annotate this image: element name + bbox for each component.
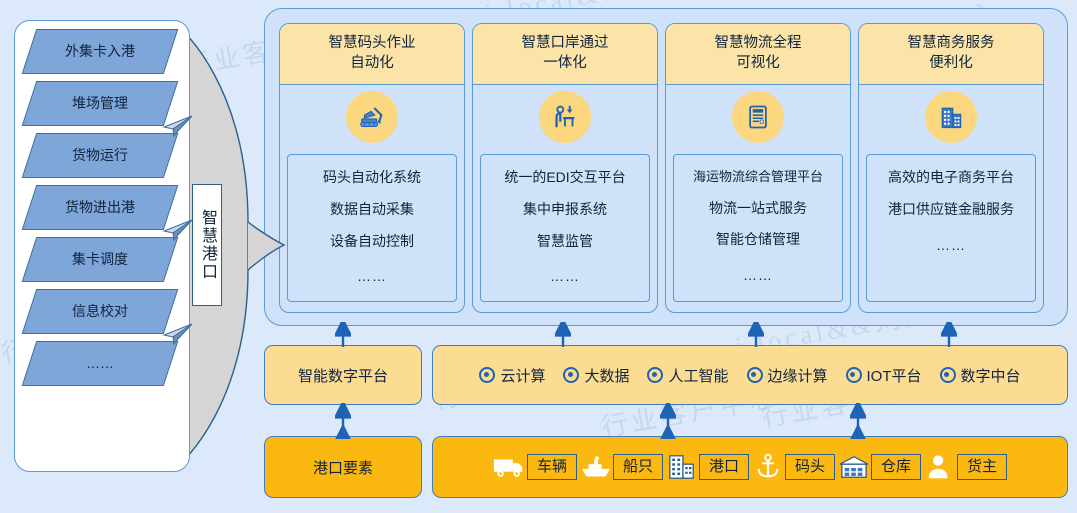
office-buildings-icon bbox=[937, 103, 965, 131]
tech-item-ai[interactable]: 人工智能 bbox=[647, 365, 728, 386]
entity-ship[interactable]: 船只 bbox=[579, 452, 663, 482]
arrow-up-card4 bbox=[941, 322, 957, 348]
card-item-list: 码头自动化系统 数据自动采集 设备自动控制 …… bbox=[287, 154, 457, 302]
smart-port-capability-container: 智慧码头作业 自动化 码头自动化系统 bbox=[264, 8, 1068, 326]
card-title: 智慧物流全程 可视化 bbox=[666, 24, 850, 85]
double-circle-icon bbox=[846, 367, 862, 383]
anchor-icon bbox=[751, 452, 785, 482]
card-icon-row bbox=[859, 85, 1043, 149]
card-title: 智慧口岸通过 一体化 bbox=[473, 24, 657, 85]
card-item: 统一的EDI交互平台 bbox=[504, 169, 625, 186]
card-item-list: 海运物流综合管理平台 物流一站式服务 智能仓储管理 …… bbox=[673, 154, 843, 302]
card-title-line1: 智慧商务服务 bbox=[908, 35, 995, 51]
card-item-list: 高效的电子商务平台 港口供应链金融服务 …… bbox=[866, 154, 1036, 302]
truck-icon bbox=[493, 452, 527, 482]
entity-warehouse[interactable]: 仓库 bbox=[837, 452, 921, 482]
step-label: 货物进出港 bbox=[29, 185, 171, 230]
paper-plane-icon bbox=[161, 115, 193, 137]
card-icon-row bbox=[280, 85, 464, 149]
icon-bubble bbox=[732, 91, 784, 143]
card-item: 智慧监管 bbox=[537, 233, 593, 250]
card-item: 高效的电子商务平台 bbox=[888, 169, 1014, 186]
card-title-line2: 自动化 bbox=[350, 55, 394, 71]
tech-item-label: 数字中台 bbox=[961, 365, 1021, 386]
entity-port[interactable]: 港口 bbox=[665, 452, 749, 482]
ship-icon bbox=[579, 452, 613, 482]
arrow-double-right bbox=[850, 403, 866, 439]
card-title-line2: 一体化 bbox=[543, 55, 587, 71]
tech-item-label: 人工智能 bbox=[668, 365, 728, 386]
double-circle-icon bbox=[479, 367, 495, 383]
port-entity-bar: 车辆 船只 bbox=[432, 436, 1068, 498]
icon-bubble bbox=[346, 91, 398, 143]
entity-label: 港口 bbox=[699, 454, 749, 480]
capability-card-business[interactable]: 智慧商务服务 便利化 bbox=[858, 23, 1044, 313]
step-label: 信息校对 bbox=[29, 289, 171, 334]
list-item[interactable]: …… bbox=[15, 341, 191, 388]
clipboard-document-icon bbox=[744, 103, 772, 131]
arrow-double-left bbox=[335, 403, 351, 439]
step-label: 集卡调度 bbox=[29, 237, 171, 282]
arrow-up-card3 bbox=[748, 322, 764, 348]
entity-wharf[interactable]: 码头 bbox=[751, 452, 835, 482]
paper-plane-icon bbox=[161, 219, 193, 241]
entity-label: 船只 bbox=[613, 454, 663, 480]
card-item: 海运物流综合管理平台 bbox=[693, 169, 823, 185]
card-item-ellipsis: …… bbox=[550, 268, 580, 285]
arrow-up-card2 bbox=[555, 322, 571, 348]
person-icon bbox=[923, 452, 957, 482]
arrow-up-card1 bbox=[335, 322, 351, 348]
port-elements-label: 港口要素 bbox=[313, 457, 373, 478]
card-title: 智慧码头作业 自动化 bbox=[280, 24, 464, 85]
list-item[interactable]: 信息校对 bbox=[15, 289, 191, 336]
warehouse-icon bbox=[837, 452, 871, 482]
list-item[interactable]: 集卡调度 bbox=[15, 237, 191, 284]
list-item[interactable]: 货物运行 bbox=[15, 133, 191, 180]
double-circle-icon bbox=[747, 367, 763, 383]
card-icon-row bbox=[666, 85, 850, 149]
entity-label: 仓库 bbox=[871, 454, 921, 480]
card-icon-row bbox=[473, 85, 657, 149]
double-circle-icon bbox=[647, 367, 663, 383]
card-item-ellipsis: …… bbox=[743, 267, 773, 284]
card-item: 智能仓储管理 bbox=[716, 231, 800, 248]
card-item: 数据自动采集 bbox=[330, 201, 414, 218]
card-item-ellipsis: …… bbox=[936, 237, 966, 254]
tech-item-label: IOT平台 bbox=[867, 365, 922, 386]
tech-item-label: 大数据 bbox=[584, 365, 629, 386]
funnel-label-text: 智慧港口 bbox=[195, 209, 219, 281]
step-label: 外集卡入港 bbox=[29, 29, 171, 74]
steps-list: 外集卡入港 堆场管理 货物运行 货物进出港 bbox=[15, 29, 191, 393]
list-item[interactable]: 堆场管理 bbox=[15, 81, 191, 128]
card-title-line2: 可视化 bbox=[736, 55, 780, 71]
card-title-line1: 智慧物流全程 bbox=[715, 35, 802, 51]
entity-label: 车辆 bbox=[527, 454, 577, 480]
tech-item-midplatform[interactable]: 数字中台 bbox=[940, 365, 1021, 386]
step-label: 货物运行 bbox=[29, 133, 171, 178]
capability-card-logistics[interactable]: 智慧物流全程 可视化 海运物流综合管理平台 bbox=[665, 23, 851, 313]
card-title: 智慧商务服务 便利化 bbox=[859, 24, 1043, 85]
tech-item-bigdata[interactable]: 大数据 bbox=[563, 365, 629, 386]
card-item-ellipsis: …… bbox=[357, 268, 387, 285]
double-circle-icon bbox=[940, 367, 956, 383]
card-title-line1: 智慧口岸通过 bbox=[522, 35, 609, 51]
list-item[interactable]: 货物进出港 bbox=[15, 185, 191, 232]
list-item[interactable]: 外集卡入港 bbox=[15, 29, 191, 76]
entity-cargo-owner[interactable]: 货主 bbox=[923, 452, 1007, 482]
entity-label: 货主 bbox=[957, 454, 1007, 480]
tech-item-edge[interactable]: 边缘计算 bbox=[747, 365, 828, 386]
step-label: …… bbox=[29, 341, 171, 386]
paper-plane-icon bbox=[161, 323, 193, 345]
card-item: 设备自动控制 bbox=[330, 233, 414, 250]
card-title-line2: 便利化 bbox=[929, 55, 973, 71]
card-item: 港口供应链金融服务 bbox=[888, 201, 1014, 218]
port-business-panel: 外集卡入港 堆场管理 货物运行 货物进出港 bbox=[14, 20, 190, 472]
card-item: 码头自动化系统 bbox=[323, 169, 421, 186]
funnel-label: 智慧港口 bbox=[192, 184, 222, 306]
capability-card-customs[interactable]: 智慧口岸通过 一体化 统一的EDI交互平台 bbox=[472, 23, 658, 313]
excavator-icon bbox=[357, 102, 387, 132]
entity-label: 码头 bbox=[785, 454, 835, 480]
buildings-icon bbox=[665, 452, 699, 482]
icon-bubble bbox=[925, 91, 977, 143]
card-item-list: 统一的EDI交互平台 集中申报系统 智慧监管 …… bbox=[480, 154, 650, 302]
digital-platform-label: 智能数字平台 bbox=[298, 365, 388, 386]
entity-vehicle[interactable]: 车辆 bbox=[493, 452, 577, 482]
card-item: 物流一站式服务 bbox=[709, 200, 807, 217]
double-circle-icon bbox=[563, 367, 579, 383]
icon-bubble bbox=[539, 91, 591, 143]
card-item: 集中申报系统 bbox=[523, 201, 607, 218]
tech-item-iot[interactable]: IOT平台 bbox=[846, 365, 922, 386]
step-label: 堆场管理 bbox=[29, 81, 171, 126]
person-at-desk-icon bbox=[550, 102, 580, 132]
tech-item-cloud[interactable]: 云计算 bbox=[479, 365, 545, 386]
capability-card-terminal[interactable]: 智慧码头作业 自动化 码头自动化系统 bbox=[279, 23, 465, 313]
arrow-double-mid bbox=[660, 403, 676, 439]
tech-capability-bar: 云计算 大数据 人工智能 边缘计算 IOT平台 数字中台 bbox=[432, 345, 1068, 405]
tech-item-label: 云计算 bbox=[500, 365, 545, 386]
diagram-canvas: 行业客户中心&&liuwei.local&&刘威 行业客户中心&& 行业客户中心… bbox=[0, 0, 1077, 513]
card-title-line1: 智慧码头作业 bbox=[329, 35, 416, 51]
tech-item-label: 边缘计算 bbox=[768, 365, 828, 386]
